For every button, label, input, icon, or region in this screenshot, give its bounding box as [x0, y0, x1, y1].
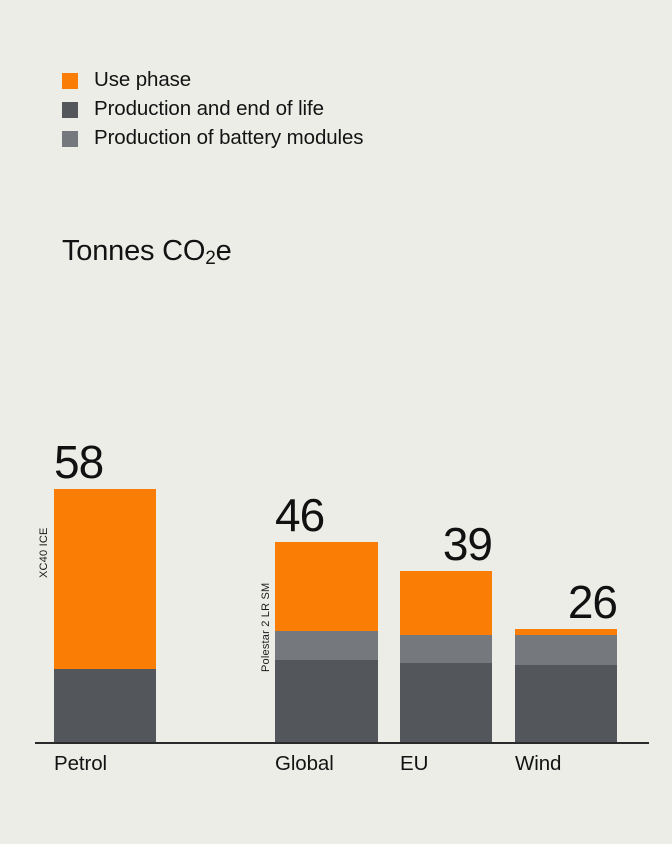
bar-segment-use-phase-eu	[400, 571, 492, 635]
category-label-petrol: Petrol	[54, 752, 107, 776]
chart-plot-area: XC40 ICE Polestar 2 LR SM 58 46 39 26 Pe…	[0, 0, 672, 844]
bar-segment-battery-modules-wind	[515, 635, 617, 665]
bar-eu[interactable]: 39	[400, 571, 492, 742]
category-label-eu: EU	[400, 752, 428, 776]
group-label-polestar-2: Polestar 2 LR SM	[260, 583, 272, 672]
bar-segment-production-end-of-life-eu	[400, 663, 492, 742]
bar-segment-production-end-of-life-global	[275, 660, 378, 742]
bar-global[interactable]: 46	[275, 542, 378, 742]
bar-value-petrol: 58	[54, 439, 103, 485]
bar-segment-production-end-of-life-wind	[515, 665, 617, 742]
bar-petrol[interactable]: 58	[54, 489, 156, 742]
category-label-global: Global	[275, 752, 334, 776]
bar-value-eu: 39	[443, 521, 492, 567]
bar-segment-use-phase-petrol	[54, 489, 156, 669]
bar-segment-battery-modules-eu	[400, 635, 492, 663]
category-label-wind: Wind	[515, 752, 561, 776]
bar-value-wind: 26	[568, 579, 617, 625]
x-axis-baseline	[35, 742, 649, 744]
bar-wind[interactable]: 26	[515, 629, 617, 742]
bar-value-global: 46	[275, 492, 324, 538]
bar-segment-production-end-of-life-petrol	[54, 669, 156, 742]
bar-segment-use-phase-global	[275, 542, 378, 631]
bar-segment-battery-modules-global	[275, 631, 378, 660]
group-label-xc40-ice: XC40 ICE	[38, 527, 50, 578]
